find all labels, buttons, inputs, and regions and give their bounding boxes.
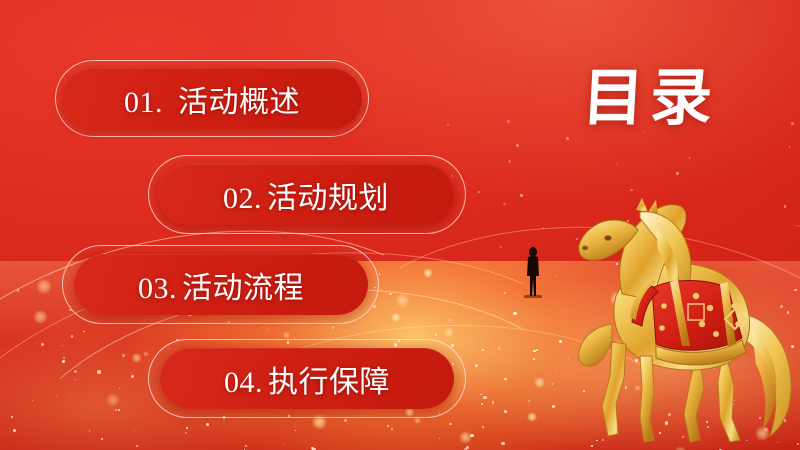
menu-item-text-02: 活动规划 <box>267 181 389 216</box>
menu-item-03[interactable]: 03.活动流程 <box>62 245 379 324</box>
menu-item-number-03: 03. <box>138 272 177 305</box>
menu-item-02[interactable]: 02.活动规划 <box>148 155 466 234</box>
menu-item-pill[interactable]: 04.执行保障 <box>160 348 454 409</box>
menu-item-pill[interactable]: 03.活动流程 <box>74 254 368 315</box>
menu-item-text-01: 活动概述 <box>178 85 300 120</box>
menu-item-text-03: 活动流程 <box>182 271 304 306</box>
menu-item-number-02: 02. <box>223 182 262 215</box>
menu-item-pill[interactable]: 01.活动概述 <box>62 68 362 129</box>
menu-item-label-03: 03.活动流程 <box>138 263 304 307</box>
menu-item-number-04: 04. <box>224 366 263 399</box>
menu-item-label-01: 01.活动概述 <box>124 77 300 121</box>
menu-item-text-04: 执行保障 <box>268 365 390 400</box>
slide-canvas: 目录 01.活动概述 02.活动规划 03.活动流程 <box>0 0 800 450</box>
menu-item-pill[interactable]: 02.活动规划 <box>158 164 454 225</box>
contents-menu: 01.活动概述 02.活动规划 03.活动流程 <box>0 0 800 450</box>
menu-item-number-01: 01. <box>124 86 163 119</box>
menu-item-label-04: 04.执行保障 <box>224 357 390 401</box>
menu-item-04[interactable]: 04.执行保障 <box>148 339 466 418</box>
menu-item-label-02: 02.活动规划 <box>223 173 389 217</box>
menu-item-01[interactable]: 01.活动概述 <box>55 60 369 137</box>
